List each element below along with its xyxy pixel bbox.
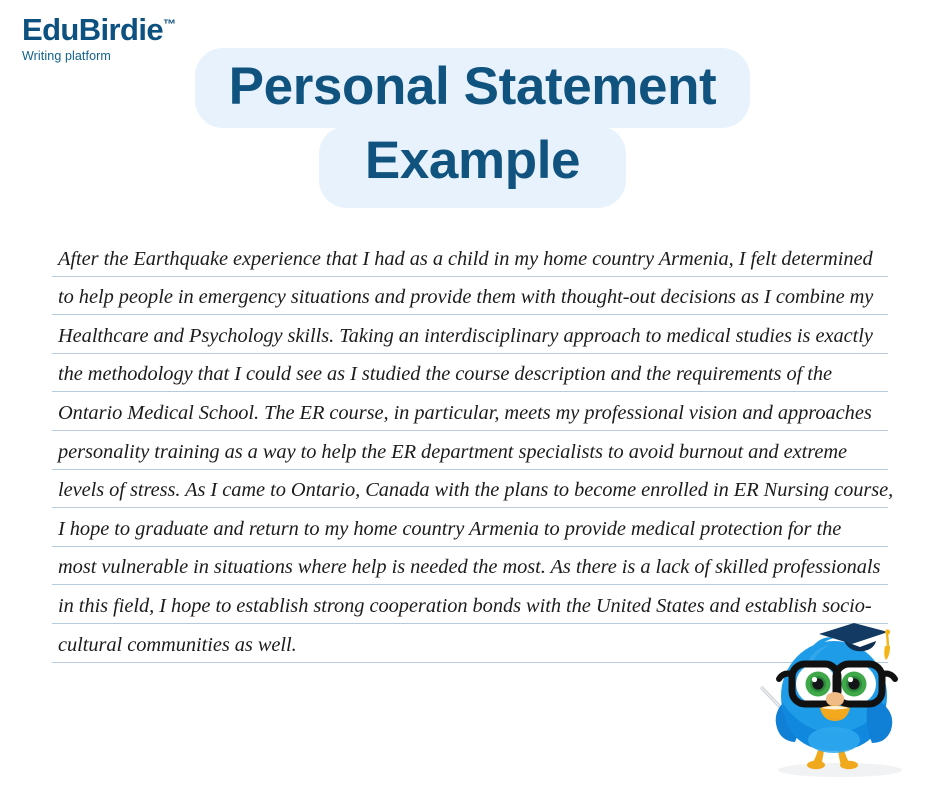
essay-line: After the Earthquake experience that I h… xyxy=(52,238,888,277)
essay-line: Ontario Medical School. The ER course, i… xyxy=(52,392,888,431)
essay-line-text: levels of stress. As I came to Ontario, … xyxy=(58,479,893,502)
title-line-2: Example xyxy=(365,126,580,196)
essay-body: After the Earthquake experience that I h… xyxy=(52,238,888,663)
essay-line-text: After the Earthquake experience that I h… xyxy=(58,248,873,271)
title-row-1: Personal Statement xyxy=(185,48,760,128)
essay-line: I hope to graduate and return to my home… xyxy=(52,508,888,547)
title-highlight-pill-1: Personal Statement xyxy=(195,48,751,128)
trademark-icon: ™ xyxy=(163,17,176,32)
essay-line-text: in this field, I hope to establish stron… xyxy=(58,595,872,618)
essay-line-text: cultural communities as well. xyxy=(58,634,297,657)
essay-line-text: Ontario Medical School. The ER course, i… xyxy=(58,402,872,425)
essay-line: the methodology that I could see as I st… xyxy=(52,354,888,393)
essay-line: Healthcare and Psychology skills. Taking… xyxy=(52,315,888,354)
poster-canvas: EduBirdie™ Writing platform Personal Sta… xyxy=(0,0,940,788)
essay-line-text: most vulnerable in situations where help… xyxy=(58,556,880,579)
essay-line-text: I hope to graduate and return to my home… xyxy=(58,518,841,541)
page-title: Personal Statement Example xyxy=(185,48,760,208)
essay-line: in this field, I hope to establish stron… xyxy=(52,585,888,624)
logo-brand-name: EduBirdie xyxy=(22,12,163,47)
essay-line-text: to help people in emergency situations a… xyxy=(58,286,873,309)
logo-wordmark: EduBirdie™ xyxy=(22,14,282,45)
title-row-2: Example xyxy=(185,128,760,208)
essay-line: most vulnerable in situations where help… xyxy=(52,547,888,586)
essay-line: levels of stress. As I came to Ontario, … xyxy=(52,470,888,509)
title-line-1: Personal Statement xyxy=(229,52,717,122)
title-highlight-pill-2: Example xyxy=(319,126,626,208)
essay-line-text: personality training as a way to help th… xyxy=(58,441,847,464)
essay-line-text: Healthcare and Psychology skills. Taking… xyxy=(58,325,873,348)
essay-line: to help people in emergency situations a… xyxy=(52,277,888,316)
essay-line-text: the methodology that I could see as I st… xyxy=(58,363,832,386)
bird-mascot-icon xyxy=(748,622,930,782)
essay-line: personality training as a way to help th… xyxy=(52,431,888,470)
